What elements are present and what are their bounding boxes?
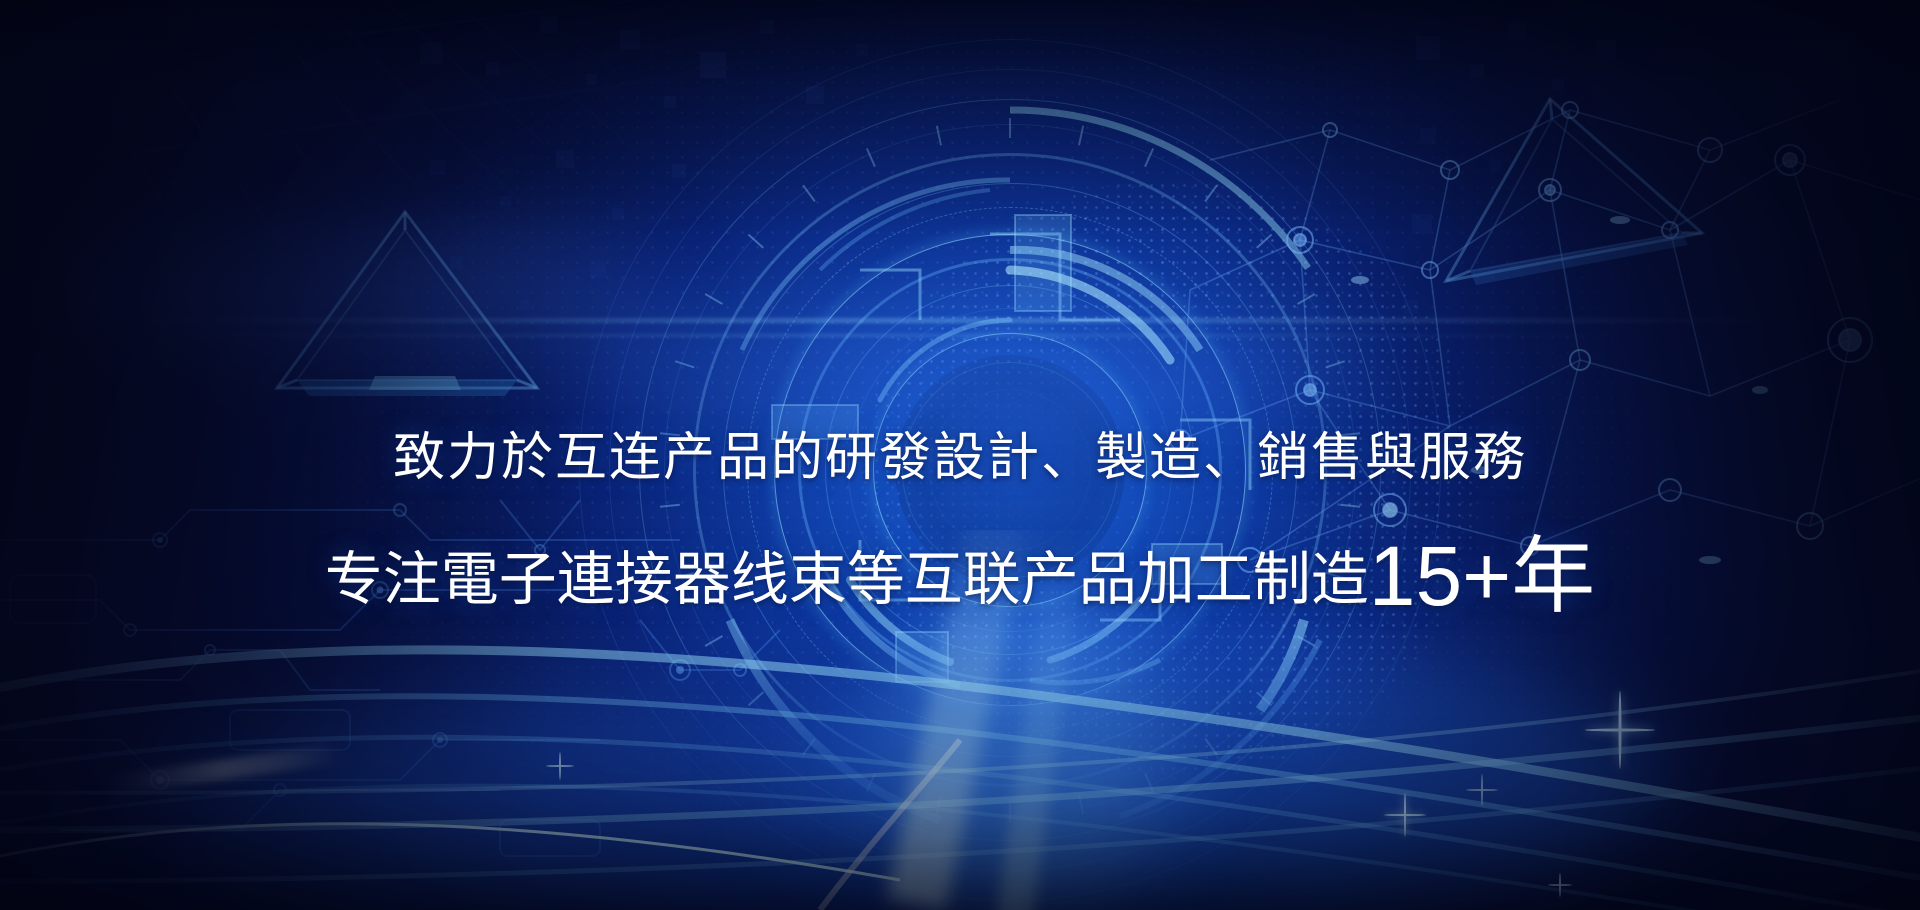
- tech-hero-banner: 致力於互连产品的研發設計、製造、銷售與服務 专注電子連接器线束等互联产品加工制造…: [0, 0, 1920, 910]
- vignette-top-bottom: [0, 0, 1920, 910]
